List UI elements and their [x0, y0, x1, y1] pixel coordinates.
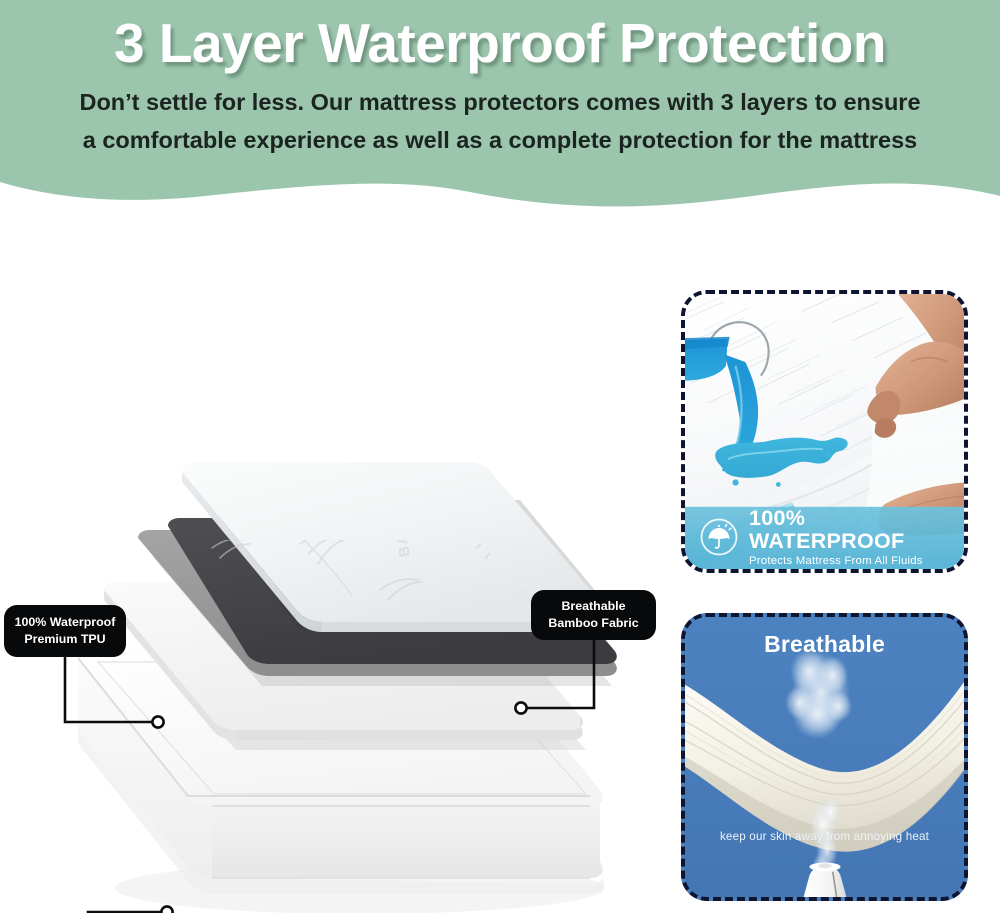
waterproof-badge-title: 100% WATERPROOF	[749, 507, 964, 552]
breathable-title: Breathable	[685, 631, 964, 658]
waterproof-badge: 100% WATERPROOF Protects Mattress From A…	[685, 505, 964, 569]
page-title: 3 Layer Waterproof Protection	[114, 13, 886, 75]
callout-breathable-bamboo[interactable]: Breathable Bamboo Fabric	[531, 590, 656, 640]
panel-waterproof[interactable]: 100% WATERPROOF Protects Mattress From A…	[681, 290, 968, 573]
breathable-caption: keep our skin away from annoying heat	[685, 830, 964, 843]
panel-breathable[interactable]: Breathable keep our skin away from annoy…	[681, 613, 968, 901]
leader-marker-tpu	[152, 716, 163, 727]
breathable-steam-photo	[685, 617, 964, 897]
callout-waterproof-tpu[interactable]: 100% Waterproof Premium TPU	[4, 605, 126, 657]
header-banner: 3 Layer Waterproof Protection Don’t sett…	[0, 0, 1000, 232]
exploded-layer-diagram: BAMBOO BAMBOO BAMBOO	[0, 238, 665, 913]
leader-marker-zipper	[161, 906, 172, 913]
umbrella-rain-icon	[699, 517, 739, 557]
waterproof-badge-subtitle: Protects Mattress From All Fluids	[749, 555, 964, 567]
mattress-layers-illustration: BAMBOO BAMBOO BAMBOO	[0, 238, 665, 913]
page-subtitle: Don’t settle for less. Our mattress prot…	[70, 83, 930, 159]
leader-marker-bamboo	[515, 702, 526, 713]
infographic-page: 3 Layer Waterproof Protection Don’t sett…	[0, 0, 1000, 913]
